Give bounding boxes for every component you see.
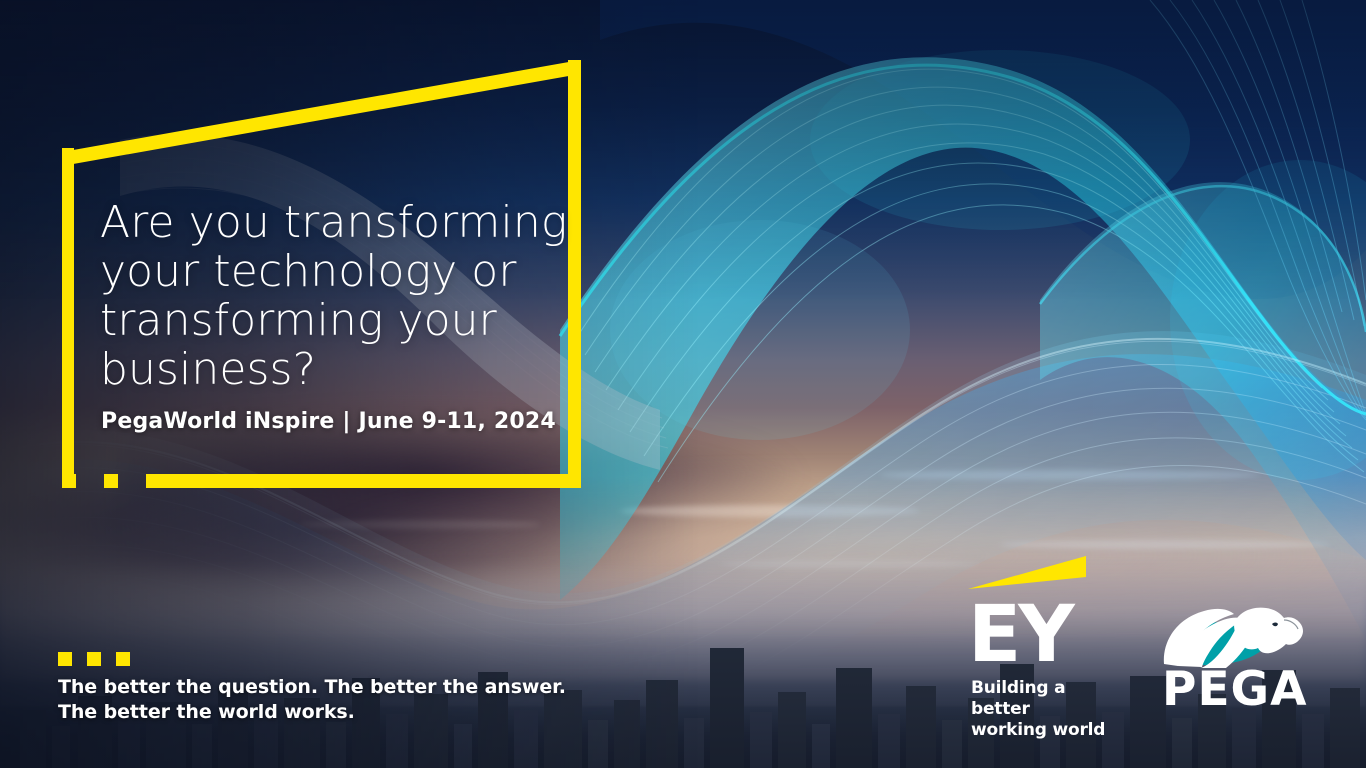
page-title: Are you transforming your technology or … (100, 198, 570, 394)
dot-square-icon (116, 652, 130, 666)
pega-wordmark: PEGA (1162, 666, 1308, 713)
ey-wordmark: EY (968, 596, 1072, 674)
ey-tagline: The better the question. The better the … (58, 675, 566, 725)
pega-horse-mark-icon (1160, 606, 1305, 668)
presentation-slide: Are you transforming your technology or … (0, 0, 1366, 768)
dot-square-icon (87, 652, 101, 666)
ey-descriptor: Building a better working world (971, 678, 1118, 741)
ey-logo: EY Building a better working world (968, 556, 1118, 716)
dot-square-icon (58, 652, 72, 666)
ey-dot-accent (58, 651, 145, 670)
event-date-line: PegaWorld iNspire | June 9-11, 2024 (101, 409, 556, 434)
pega-logo: PEGA (1160, 606, 1305, 714)
